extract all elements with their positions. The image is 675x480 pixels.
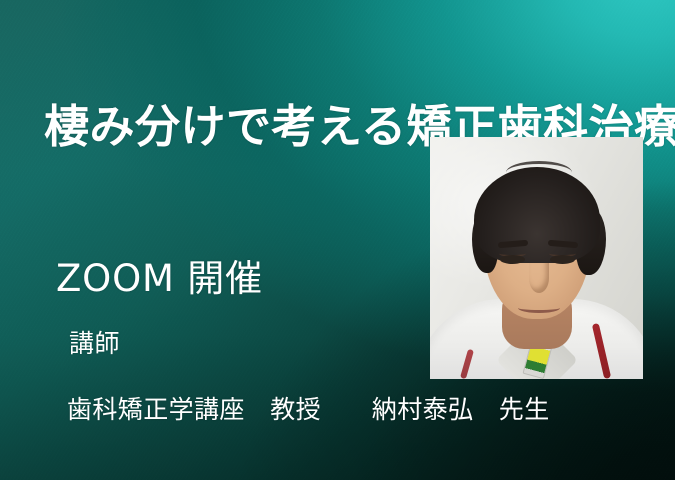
- portrait-mouth: [518, 303, 560, 313]
- lecturer-name-line: 歯科矯正学講座 教授 納村泰弘 先生: [67, 396, 550, 424]
- portrait-eye-left: [500, 255, 525, 264]
- event-mode-text: ZOOM 開催: [56, 259, 263, 300]
- portrait-hair-wisp: [506, 161, 572, 184]
- portrait-nose: [529, 263, 549, 293]
- portrait-eye-right: [550, 255, 575, 264]
- lecturer-label: 講師: [69, 330, 120, 358]
- seminar-slide: 棲み分けで考える矯正歯科治療 ZOOM 開催 講師 歯科矯正学講座 教授 納村泰…: [0, 0, 675, 480]
- lecturer-portrait-photo: [430, 137, 643, 379]
